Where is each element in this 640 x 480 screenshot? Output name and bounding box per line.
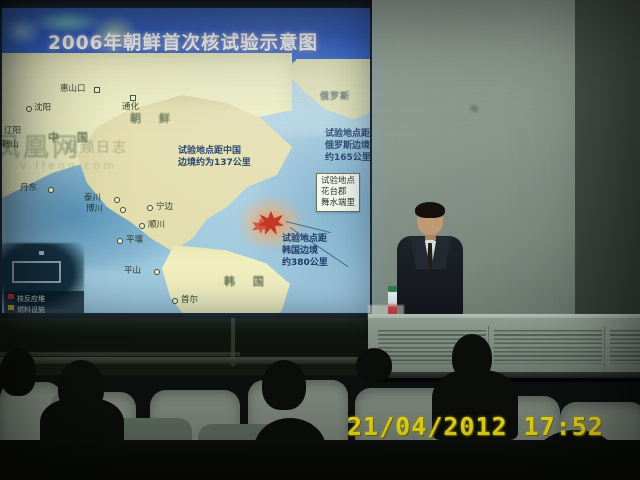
- camera-timestamp: 21/04/2012 17:52: [347, 412, 604, 441]
- callout-line2: 花台郡: [321, 187, 355, 198]
- annotation-russia-border-line3: 约165公里: [325, 152, 370, 164]
- city-label-seoul: 首尔: [181, 296, 198, 305]
- bottle-cap: [388, 286, 397, 292]
- city-marker-taechon: [114, 197, 120, 203]
- city-label-taechon: 泰川: [84, 194, 101, 203]
- annotation-china-border-line1: 试验地点距中国: [178, 145, 241, 157]
- watermark-url: v.ifeng.com: [20, 159, 117, 172]
- city-label-yongbyon: 宁边: [156, 203, 173, 212]
- country-label-south-korea: 韩 国: [224, 273, 271, 289]
- annotation-korea-border-line2: 韩国边境: [282, 245, 318, 257]
- callout-line3: 舞水端里: [321, 198, 355, 209]
- foreground-shadow: [0, 440, 640, 480]
- city-marker-seoul: [172, 298, 178, 304]
- legend-swatch-reactor: [8, 294, 14, 299]
- city-marker-yongbyon: [147, 205, 153, 211]
- city-label-dandong: 丹东: [20, 184, 37, 193]
- legend-swatch-fuel: [8, 305, 14, 310]
- city-label-pakchon: 博川: [86, 205, 103, 214]
- city-label-sunchon: 顺川: [148, 221, 165, 230]
- city-marker-pyongsan: [154, 269, 160, 275]
- annotation-korea-border-line1: 试验地点距: [282, 233, 327, 245]
- photograph: 2006年朝鲜首次核试验示意图 凤凰网 视频日志 v.ifeng.com 中 国…: [0, 0, 640, 480]
- city-marker-sunchon: [139, 223, 145, 229]
- annotation-korea-border-line3: 约380公里: [282, 257, 328, 269]
- chalkboard: [0, 315, 375, 375]
- city-marker-pyongyang: [117, 238, 123, 244]
- legend-label-fuel: 燃料设施: [17, 305, 45, 313]
- map-inset-marker: [39, 251, 44, 255]
- room-wall-corner: [575, 0, 640, 330]
- audience-head-8: [356, 348, 392, 382]
- projector-glare-c: [2, 16, 42, 46]
- desk-vent-panel-3: [610, 330, 640, 364]
- chalk-rail: [0, 357, 375, 364]
- legend-label-reactor: 核反应堆: [17, 294, 45, 304]
- city-label-shenyang: 沈阳: [34, 104, 51, 113]
- city-marker-shenyang: [26, 106, 32, 112]
- city-marker-pakchon: [120, 207, 126, 213]
- slide-map: 凤凰网 视频日志 v.ifeng.com 中 国 朝 鲜 韩 国 俄罗斯 沈阳 …: [2, 65, 370, 313]
- city-label-hyesan: 惠山口: [60, 85, 86, 94]
- country-label-china: 中 国: [48, 129, 95, 145]
- city-label-pyongyang: 平壤: [126, 236, 143, 245]
- slide-title: 2006年朝鲜首次核试验示意图: [48, 29, 358, 55]
- annotation-china-border-line2: 边境约为137公里: [178, 157, 251, 169]
- annotation-russia-border-line2: 俄罗斯边境: [325, 140, 370, 152]
- city-marker-tonghua: [130, 95, 136, 101]
- audience-head-2: [262, 360, 306, 410]
- presenter: [395, 205, 465, 323]
- map-inset-frame: [12, 261, 61, 283]
- city-label-anshan: 鞍山: [2, 141, 19, 150]
- desk-panel-seam-2: [604, 326, 605, 372]
- country-label-russia: 俄罗斯: [320, 89, 350, 102]
- projection-screen: 2006年朝鲜首次核试验示意图 凤凰网 视频日志 v.ifeng.com 中 国…: [2, 8, 370, 313]
- desk-vent-panel-2: [494, 330, 602, 364]
- country-label-north-korea: 朝 鲜: [130, 110, 177, 126]
- city-marker-hyesan: [94, 87, 100, 93]
- annotation-russia-border-line1: 试验地点距: [325, 128, 370, 140]
- chalk-rail-upper: [0, 352, 240, 356]
- test-site-callout: 试验地点 花台郡 舞水端里: [316, 173, 360, 212]
- projection-screen-frame: 2006年朝鲜首次核试验示意图 凤凰网 视频日志 v.ifeng.com 中 国…: [0, 0, 372, 318]
- city-marker-dandong: [48, 187, 54, 193]
- callout-line1: 试验地点: [321, 176, 355, 187]
- wall-smudge: [470, 105, 478, 112]
- city-label-tonghua: 通化: [122, 103, 139, 112]
- presenter-hair: [415, 202, 445, 218]
- audience-head-3: [0, 348, 36, 396]
- city-label-liaoyang: 辽阳: [4, 127, 21, 136]
- city-label-pyongsan: 平山: [124, 267, 141, 276]
